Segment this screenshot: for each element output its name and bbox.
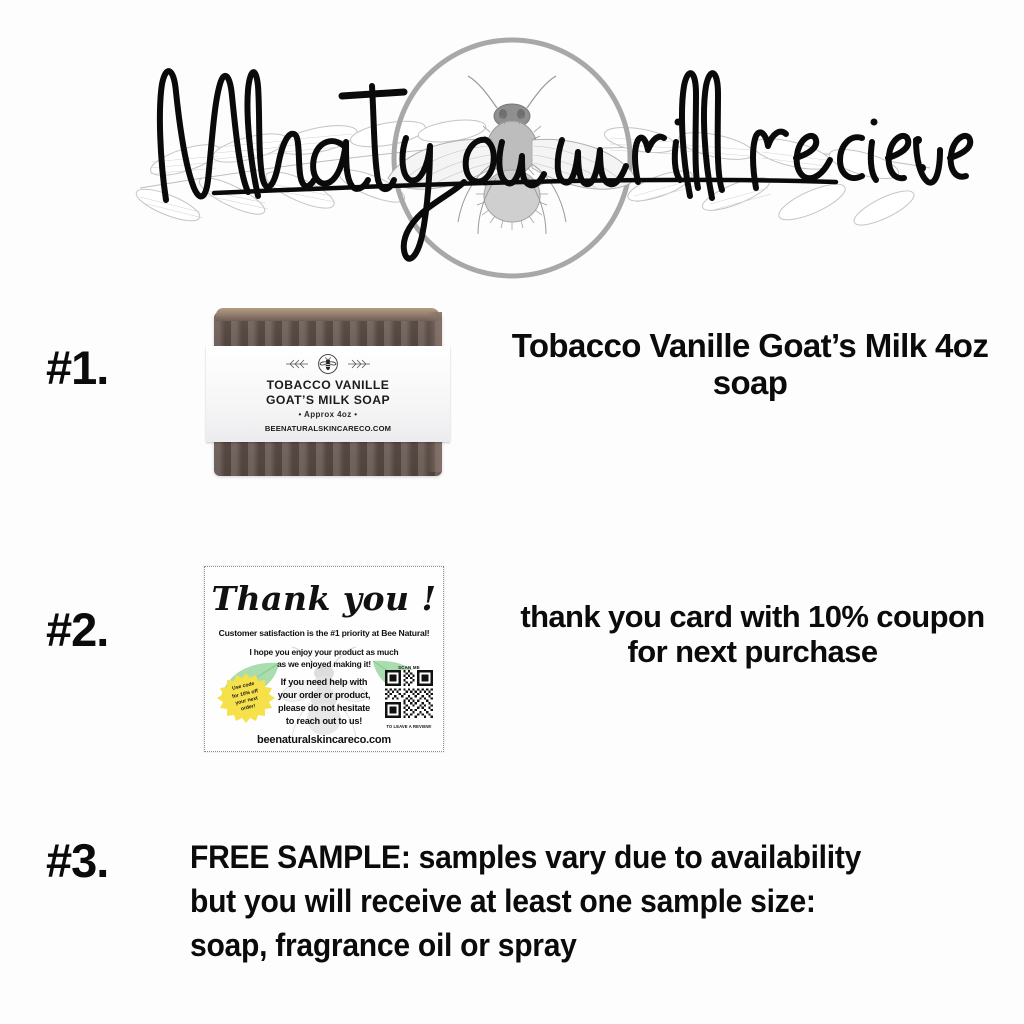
item-row-3: #3. FREE SAMPLE: samples vary due to ava… [0,825,1024,985]
card-line-1: Customer satisfaction is the #1 priority… [205,628,443,638]
soap-label-line1: TOBACCO VANILLE [206,378,450,392]
item-number-3: #3. [46,833,108,888]
soap-label-website: BEENATURALSKINCARECO.COM [206,424,450,433]
bee-illustration-icon [388,76,636,234]
header-watermark [0,0,1024,290]
item-row-2: #2. [0,555,1024,765]
thank-you-card: Thank you ! Customer satisfaction is the… [204,566,444,752]
qr-review-label: TO LEAVE A REVIEW! [384,724,434,729]
item-number-1: #1. [46,340,108,395]
soap-bar-photo: TOBACCO VANILLE GOAT’S MILK SOAP • Appro… [214,308,442,480]
coupon-badge: Use code for 10% off your next order! [216,672,276,724]
leaf-sprig-icon [346,358,372,370]
item-description-3-line-1: FREE SAMPLE: samples vary due to availab… [190,835,951,879]
soap-top-edge [216,308,440,321]
item-description-3: FREE SAMPLE: samples vary due to availab… [190,835,951,967]
bee-in-circle-icon [317,353,339,375]
soap-label-size: • Approx 4oz • [206,410,450,419]
soap-label-line2: GOAT’S MILK SOAP [206,393,450,407]
item-description-1: Tobacco Vanille Goat’s Milk 4oz soap [500,328,1000,402]
item-description-3-line-2: but you will receive at least one sample… [190,879,951,923]
card-heading: Thank you ! [205,579,443,618]
promo-graphic: #1. [0,0,1024,1024]
item-row-1: #1. [0,300,1024,500]
soap-label-crest [206,351,450,377]
coupon-line-4: order! [240,704,256,714]
item-number-2: #2. [46,602,108,657]
item-description-3-line-3: soap, fragrance oil or spray [190,923,951,967]
item-description-2: thank you card with 10% coupon for next … [500,600,1005,669]
leaf-sprig-icon [284,358,310,370]
card-line-2: I hope you enjoy your product as much [205,647,443,657]
soap-label: TOBACCO VANILLE GOAT’S MILK SOAP • Appro… [206,346,450,442]
card-website: beenaturalskincareco.com [205,734,443,746]
qr-code-icon [385,670,433,718]
header [0,0,1024,290]
qr-block: SCAN ME [384,665,434,729]
